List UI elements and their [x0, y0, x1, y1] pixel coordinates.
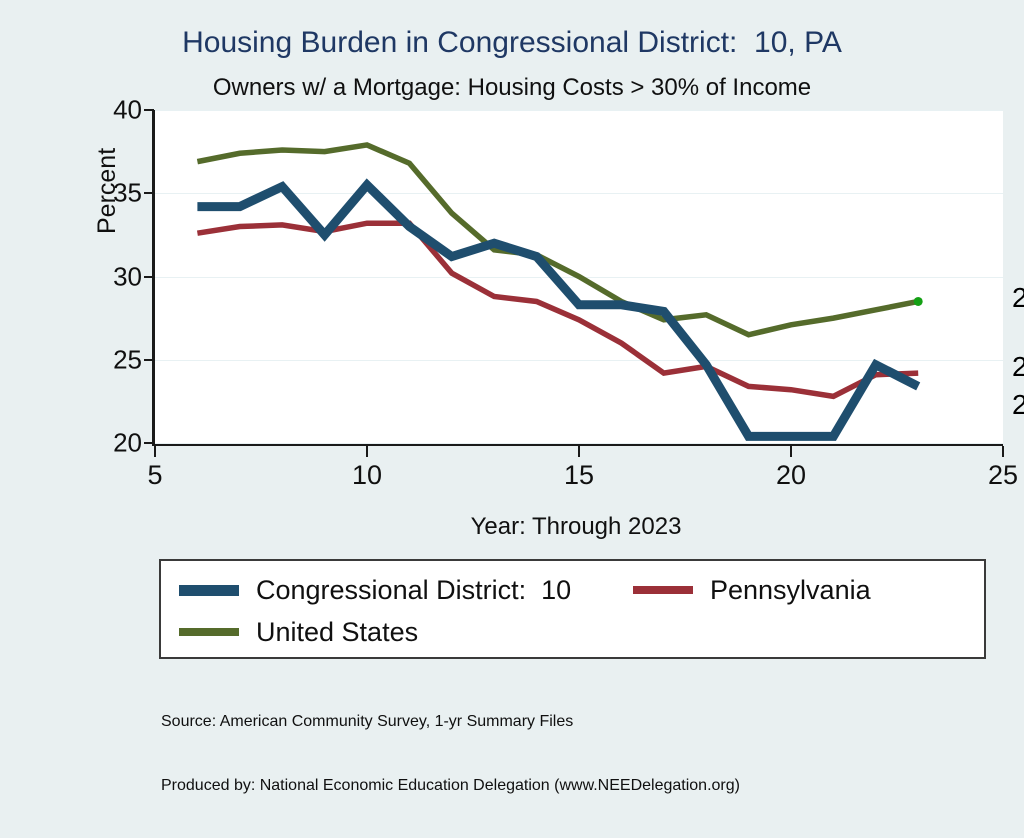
series-lines	[155, 110, 1003, 443]
legend-item-congressional-district: Congressional District: 10	[179, 573, 571, 607]
x-tick-label: 20	[776, 460, 806, 491]
x-tick-label: 5	[147, 460, 162, 491]
x-tick-label: 25	[988, 460, 1018, 491]
x-tick-mark	[790, 446, 792, 457]
x-tick-label: 15	[564, 460, 594, 491]
legend-swatch-united-states	[179, 628, 239, 636]
x-axis-title: Year: Through 2023	[152, 513, 1000, 541]
y-tick-mark	[144, 192, 154, 194]
x-tick-mark	[578, 446, 580, 457]
x-tick-label: 10	[352, 460, 382, 491]
y-tick-label: 35	[113, 178, 142, 209]
x-tick-mark	[154, 446, 156, 457]
legend-item-pennsylvania: Pennsylvania	[633, 573, 871, 607]
series-line	[197, 223, 918, 396]
legend-item-united-states: United States	[179, 615, 418, 649]
x-tick-mark	[1002, 446, 1004, 457]
footer-line-source: Source: American Community Survey, 1-yr …	[161, 711, 740, 732]
y-tick-label: 30	[113, 261, 142, 292]
chart-title: Housing Burden in Congressional District…	[0, 26, 1024, 60]
end-label-congressional-district: 23.4	[1012, 389, 1024, 421]
y-tick-label: 40	[113, 95, 142, 126]
y-tick-mark	[144, 276, 154, 278]
legend-swatch-pennsylvania	[633, 586, 693, 594]
chart-container: Housing Burden in Congressional District…	[0, 0, 1024, 745]
end-label-united-states: 28.5	[1012, 282, 1024, 314]
legend-label-congressional-district: Congressional District: 10	[256, 575, 571, 606]
legend-swatch-congressional-district	[179, 585, 239, 596]
end-label-pennsylvania: 24.2	[1012, 351, 1024, 383]
x-tick-mark	[366, 446, 368, 457]
y-tick-label: 25	[113, 344, 142, 375]
chart-subtitle: Owners w/ a Mortgage: Housing Costs > 30…	[0, 74, 1024, 102]
footer-source: Source: American Community Survey, 1-yr …	[161, 669, 740, 838]
y-tick-label: 20	[113, 428, 142, 459]
gridline	[155, 443, 1003, 444]
legend-label-pennsylvania: Pennsylvania	[710, 575, 871, 606]
y-tick-mark	[144, 442, 154, 444]
legend-label-united-states: United States	[256, 617, 418, 648]
legend: Congressional District: 10 Pennsylvania …	[159, 559, 986, 659]
y-tick-mark	[144, 359, 154, 361]
series-line	[197, 145, 918, 335]
end-marker-dot-icon	[914, 297, 923, 306]
footer-line-producer: Produced by: National Economic Education…	[161, 775, 740, 796]
y-tick-mark	[144, 109, 154, 111]
plot-area: Percent 2025303540 510152025	[152, 110, 1003, 446]
